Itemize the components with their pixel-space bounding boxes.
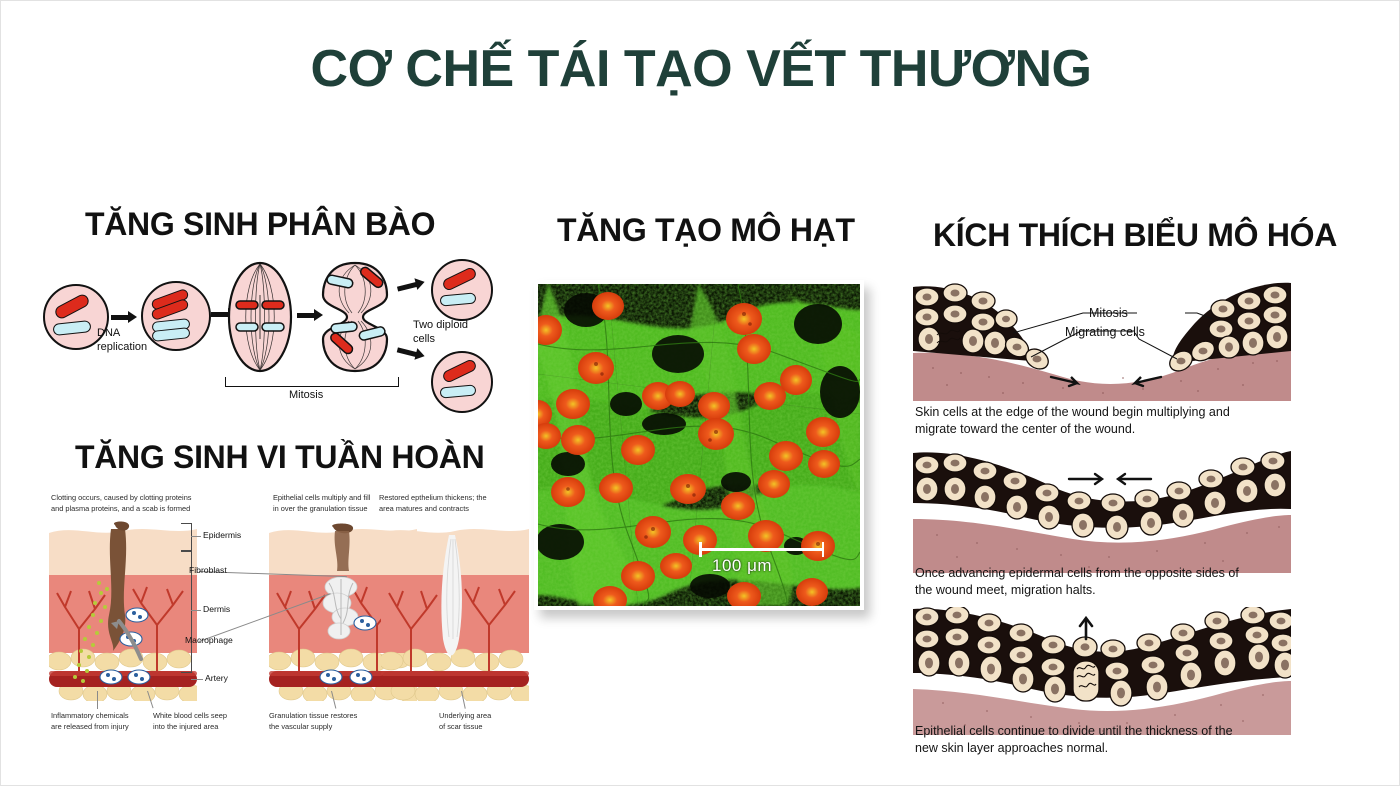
caption-line1: Skin cells at the edge of the wound begi… — [915, 404, 1299, 421]
section-heading-epithelialization: KÍCH THÍCH BIỂU MÔ HÓA — [933, 217, 1337, 254]
label-two-diploid-cells: Two diploid cells — [413, 319, 493, 347]
scale-bar — [699, 548, 824, 551]
micrograph-image — [538, 284, 860, 606]
caption-line2: the vascular supply — [269, 722, 389, 733]
label-two-diploid-line2: cells — [413, 333, 435, 345]
caption-line2: new skin layer approaches normal. — [915, 740, 1299, 757]
wound-stage-1 — [49, 519, 197, 701]
wound-caption-2: White blood cells seep into the injured … — [153, 711, 251, 732]
wound-stage-title-3: Restored epthelium thickens; the area ma… — [379, 493, 529, 514]
epithelialization-panel-2 — [913, 445, 1291, 573]
wound-stage-title-1: Clotting occurs, caused by clotting prot… — [51, 493, 221, 514]
mitosis-bracket — [225, 377, 399, 387]
chromosome-blue — [440, 292, 477, 306]
anatomy-label-fibroblast: Fibroblast — [189, 565, 227, 575]
epi-label-mitosis: Mitosis — [1089, 306, 1128, 320]
section-heading-microcirculation: TĂNG SINH VI TUẦN HOÀN — [75, 439, 484, 476]
cell-anaphase — [319, 261, 391, 373]
epithelialization-caption-1: Skin cells at the edge of the wound begi… — [915, 404, 1299, 437]
wound-caption-3: Granulation tissue restores the vascular… — [269, 711, 389, 732]
arrow-daughter-top — [397, 281, 426, 288]
epithelialization-panel-1: Mitosis Migrating cells — [913, 273, 1291, 401]
label-dna-replication-line1: DNA — [97, 327, 120, 339]
leader-epidermis — [191, 536, 201, 537]
arrow-daughter-bottom — [397, 349, 426, 356]
micrograph-frame: 100 μm — [534, 280, 864, 610]
slide-root: CƠ CHẾ TÁI TẠO VẾT THƯƠNG TĂNG SINH PHÂN… — [1, 1, 1399, 785]
epithelialization-panel-3 — [913, 607, 1291, 735]
caption-line2: are released from injury — [51, 722, 151, 733]
epithelialization-caption-3: Epithelial cells continue to divide unti… — [915, 723, 1299, 756]
label-two-diploid-line1: Two diploid — [413, 319, 468, 331]
epithelialization-caption-2: Once advancing epidermal cells from the … — [915, 565, 1299, 598]
anatomy-label-artery: Artery — [205, 673, 228, 683]
caption-line2: the wound meet, migration halts. — [915, 582, 1299, 599]
wound-stage-3 — [381, 519, 529, 701]
wound-healing-diagram: Clotting occurs, caused by clotting prot… — [41, 493, 531, 751]
title-line1: Restored epthelium thickens; the — [379, 493, 529, 504]
title-line2: area matures and contracts — [379, 504, 529, 515]
title-line2: and plasma proteins, and a scab is forme… — [51, 504, 221, 515]
chromosome-red — [441, 266, 478, 292]
cell-daughter-1 — [431, 259, 493, 321]
caption-line2: of scar tissue — [439, 722, 529, 733]
epidermis-bracket — [181, 523, 192, 551]
section-heading-granulation: TĂNG TẠO MÔ HẠT — [557, 212, 855, 249]
chromosome-blue — [440, 384, 477, 398]
caption-line2: migrate toward the center of the wound. — [915, 421, 1299, 438]
caption-line1: White blood cells seep — [153, 711, 251, 722]
leader-caption-1 — [97, 691, 98, 709]
caption-line1: Granulation tissue restores — [269, 711, 389, 722]
caption-line1: Inflammatory chemicals — [51, 711, 151, 722]
chromosome-blue — [52, 320, 91, 336]
anatomy-label-epidermis: Epidermis — [203, 530, 241, 540]
caption-line2: into the injured area — [153, 722, 251, 733]
chromosome-red — [441, 358, 478, 384]
cell-replicated — [141, 281, 211, 351]
page-title: CƠ CHẾ TÁI TẠO VẾT THƯƠNG — [1, 39, 1400, 99]
granulation-micrograph — [538, 284, 860, 606]
leader-dermis — [191, 610, 201, 611]
epi-label-migrating-cells: Migrating cells — [1065, 325, 1145, 339]
caption-line1: Epithelial cells continue to divide unti… — [915, 723, 1299, 740]
caption-line1: Once advancing epidermal cells from the … — [915, 565, 1299, 582]
leader-artery — [191, 679, 203, 680]
scale-bar-label: 100 μm — [712, 556, 772, 576]
mitosis-diagram: DNA replication — [31, 259, 501, 414]
anatomy-label-dermis: Dermis — [203, 604, 230, 614]
label-mitosis: Mitosis — [289, 389, 323, 403]
chromosome-red — [53, 292, 91, 320]
section-heading-mitosis: TĂNG SINH PHÂN BÀO — [85, 206, 435, 243]
title-line1: Clotting occurs, caused by clotting prot… — [51, 493, 221, 504]
wound-caption-1: Inflammatory chemicals are released from… — [51, 711, 151, 732]
wound-caption-4: Underlying area of scar tissue — [439, 711, 529, 732]
cell-metaphase — [227, 261, 293, 373]
label-dna-replication-line2: replication — [97, 341, 147, 353]
cell-daughter-2 — [431, 351, 493, 413]
caption-line1: Underlying area — [439, 711, 529, 722]
anatomy-label-macrophage: Macrophage — [185, 635, 233, 645]
